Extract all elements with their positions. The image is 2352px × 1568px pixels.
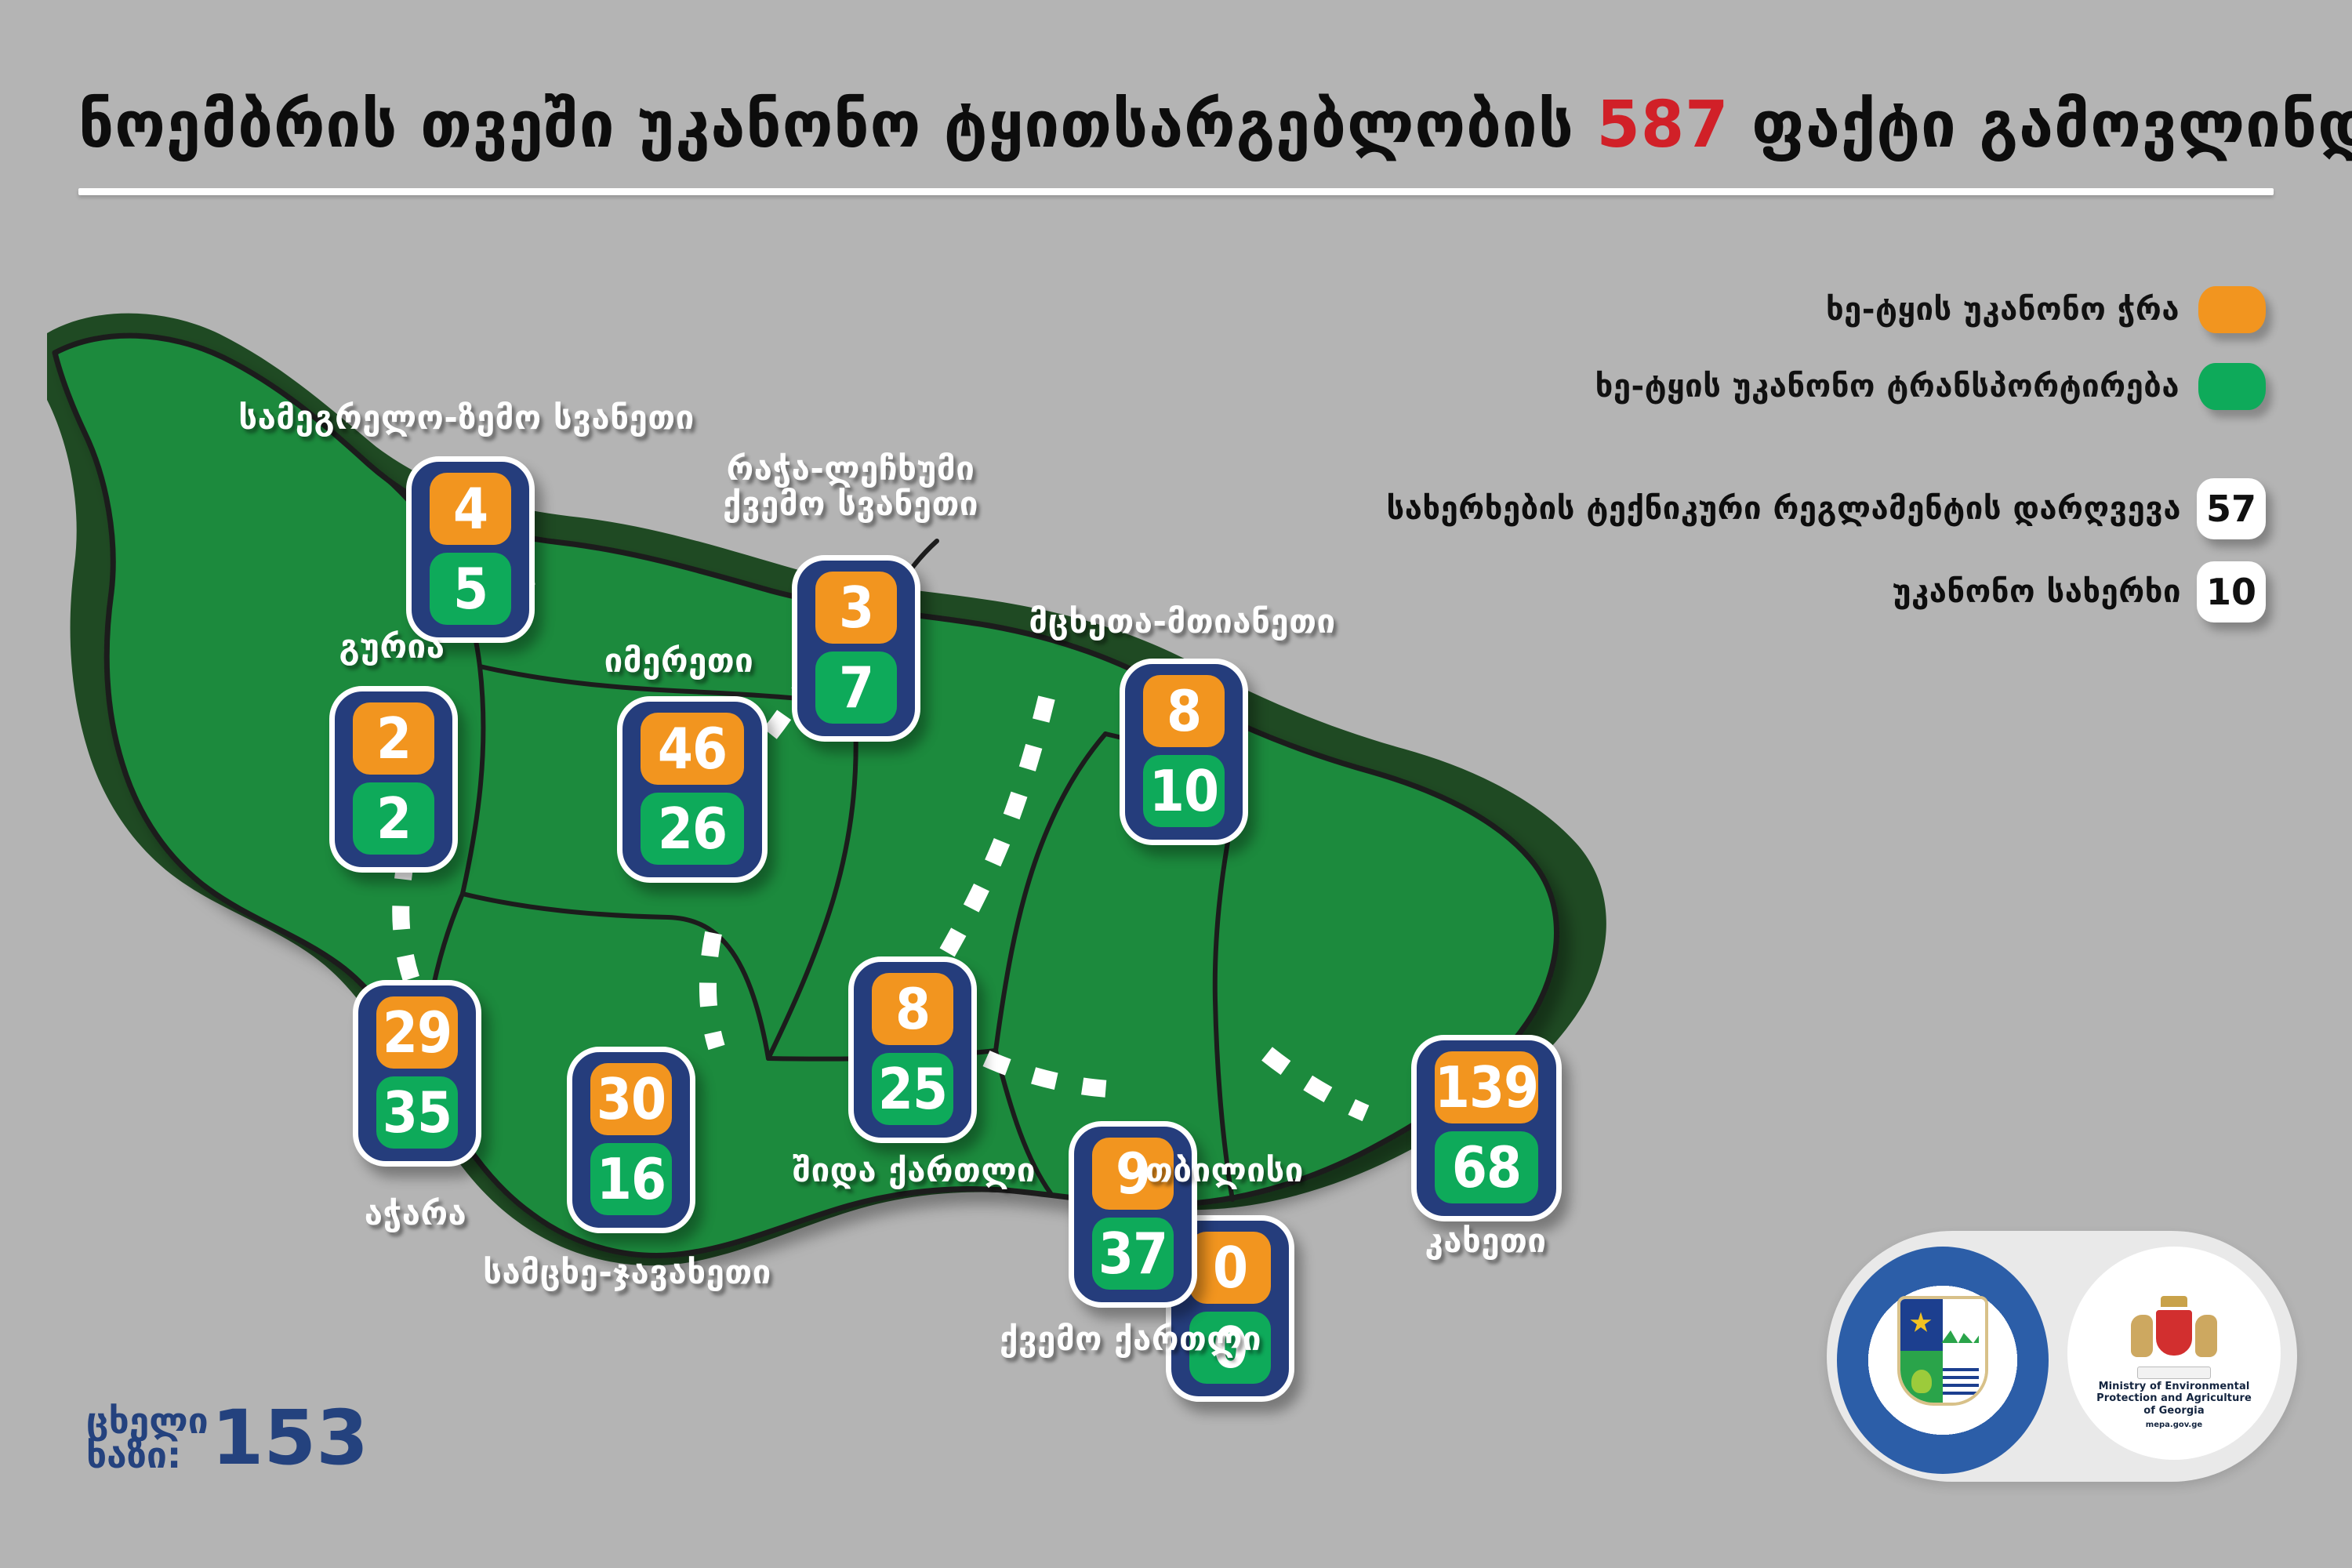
coa-shield-icon xyxy=(2154,1308,2194,1357)
region-badge-kvemokartli[interactable]: 937 xyxy=(1069,1121,1197,1308)
badge-value-transport-kakheti: 68 xyxy=(1435,1131,1538,1203)
badge-value-cutting-guria: 2 xyxy=(353,702,434,775)
logos-container: Ministry of Environmental Protection and… xyxy=(1827,1231,2297,1482)
title-text-pre: ნოემბრის თვეში უკანონო ტყითსარგებლობის xyxy=(78,88,1597,162)
region-label-line: ქვემო ქართლი xyxy=(1000,1321,1261,1356)
region-label-line: მცხეთა-მთიანეთი xyxy=(1029,604,1335,639)
region-label-line: სამცხე-ჯავახეთი xyxy=(483,1254,771,1290)
badge-value-transport-samegrelo: 5 xyxy=(430,553,511,625)
region-label-mtskheta: მცხეთა-მთიანეთი xyxy=(1029,604,1335,639)
region-label-shidakartli: შიდა ქართლი xyxy=(793,1152,1036,1188)
title-divider xyxy=(78,188,2274,195)
region-badge-racha[interactable]: 37 xyxy=(792,555,920,742)
region-label-samegrelo: სამეგრელო-ზემო სვანეთი xyxy=(238,400,695,435)
badge-value-transport-guria: 2 xyxy=(353,782,434,855)
region-badge-adjara[interactable]: 2935 xyxy=(353,980,481,1167)
badge-value-cutting-imereti: 46 xyxy=(641,713,744,785)
region-label-line: თბილისი xyxy=(1145,1152,1304,1188)
region-label-racha: რაჭა-ლეჩხუმიქვემო სვანეთი xyxy=(723,451,978,522)
region-label-line: რაჭა-ლეჩხუმი xyxy=(723,451,978,486)
lion-left-icon xyxy=(2131,1315,2153,1357)
stat-value-illegal-sawmill: 10 xyxy=(2197,561,2266,622)
badge-value-transport-imereti: 26 xyxy=(641,793,744,865)
region-badge-mtskheta[interactable]: 810 xyxy=(1120,659,1248,845)
badge-value-transport-kvemokartli: 37 xyxy=(1092,1218,1174,1290)
title-text-post: ფაქტი გამოვლინდა xyxy=(1729,88,2352,162)
mepa-en-line3: of Georgia xyxy=(2096,1405,2252,1417)
region-label-kakheti: კახეთი xyxy=(1425,1223,1546,1258)
region-badge-samtskhe[interactable]: 3016 xyxy=(567,1047,695,1233)
tree-icon xyxy=(1911,1370,1932,1393)
title-highlight-count: 587 xyxy=(1597,88,1730,162)
region-badge-imereti[interactable]: 4626 xyxy=(617,696,768,883)
region-label-kvemokartli: ქვემო ქართლი xyxy=(1000,1321,1261,1356)
region-label-line: შიდა ქართლი xyxy=(793,1152,1036,1188)
badge-value-transport-mtskheta: 10 xyxy=(1143,755,1225,827)
region-label-tbilisi: თბილისი xyxy=(1145,1152,1304,1188)
badge-value-cutting-samtskhe: 30 xyxy=(590,1063,672,1135)
stat-value-regulation-violation: 57 xyxy=(2197,478,2266,539)
mepa-en-line1: Ministry of Environmental xyxy=(2096,1381,2252,1392)
legend-swatch-green-icon xyxy=(2198,363,2266,410)
crown-icon xyxy=(2161,1296,2187,1307)
badge-value-cutting-adjara: 29 xyxy=(376,996,458,1069)
stat-label-illegal-sawmill: უკანონო სახერხი xyxy=(1893,574,2181,610)
hotline-logo: ცხელი ხაზი: 153 xyxy=(86,1403,368,1472)
hotline-line1: ცხელი xyxy=(86,1403,209,1438)
mepa-en-line2: Protection and Agriculture xyxy=(2096,1392,2252,1404)
environmental-supervision-emblem-icon xyxy=(1837,1247,2056,1466)
coat-of-arms-icon xyxy=(2131,1304,2217,1376)
badge-value-cutting-samegrelo: 4 xyxy=(430,473,511,545)
page-title: ნოემბრის თვეში უკანონო ტყითსარგებლობის 5… xyxy=(78,74,2274,176)
badge-value-transport-samtskhe: 16 xyxy=(590,1143,672,1215)
badge-value-cutting-tbilisi: 0 xyxy=(1189,1232,1271,1304)
badge-value-transport-racha: 7 xyxy=(815,652,897,724)
region-badge-shidakartli[interactable]: 825 xyxy=(848,956,977,1143)
legend-label-transport: ხე-ტყის უკანონო ტრანსპორტირება xyxy=(1595,368,2180,405)
hotline-line2: ხაზი: xyxy=(86,1438,209,1472)
region-label-imereti: იმერეთი xyxy=(604,643,754,678)
shield-icon xyxy=(1897,1296,1988,1406)
badge-value-cutting-shidakartli: 8 xyxy=(872,973,953,1045)
region-label-line: სამეგრელო-ზემო სვანეთი xyxy=(238,400,695,435)
legend-label-cutting: ხე-ტყის უკანონო ჭრა xyxy=(1826,292,2180,328)
badge-value-transport-adjara: 35 xyxy=(376,1076,458,1149)
region-label-line: გურია xyxy=(339,629,445,664)
mepa-url: mepa.gov.ge xyxy=(2146,1421,2202,1429)
lion-right-icon xyxy=(2195,1315,2217,1357)
region-label-samtskhe: სამცხე-ჯავახეთი xyxy=(483,1254,771,1290)
georgia-map: სამეგრელო-ზემო სვანეთი45რაჭა-ლეჩხუმიქვემ… xyxy=(0,259,1662,1396)
badge-value-transport-shidakartli: 25 xyxy=(872,1053,953,1125)
hotline-number: 153 xyxy=(212,1404,368,1472)
badge-value-cutting-kakheti: 139 xyxy=(1435,1051,1538,1123)
badge-value-cutting-racha: 3 xyxy=(815,572,897,644)
region-badge-samegrelo[interactable]: 45 xyxy=(406,456,535,643)
region-label-line: კახეთი xyxy=(1425,1223,1546,1258)
region-label-line: ქვემო სვანეთი xyxy=(723,486,978,521)
region-badge-guria[interactable]: 22 xyxy=(329,686,458,873)
region-label-line: აჭარა xyxy=(365,1196,467,1231)
badge-value-cutting-mtskheta: 8 xyxy=(1143,675,1225,747)
region-label-adjara: აჭარა xyxy=(365,1196,467,1231)
region-label-guria: გურია xyxy=(339,629,445,664)
region-badge-kakheti[interactable]: 13968 xyxy=(1411,1035,1562,1221)
ribbon-icon xyxy=(2137,1367,2211,1379)
wave-icon xyxy=(1943,1368,1979,1395)
region-label-line: იმერეთი xyxy=(604,643,754,678)
legend-swatch-orange-icon xyxy=(2198,286,2266,333)
mepa-emblem-icon: Ministry of Environmental Protection and… xyxy=(2067,1247,2287,1466)
